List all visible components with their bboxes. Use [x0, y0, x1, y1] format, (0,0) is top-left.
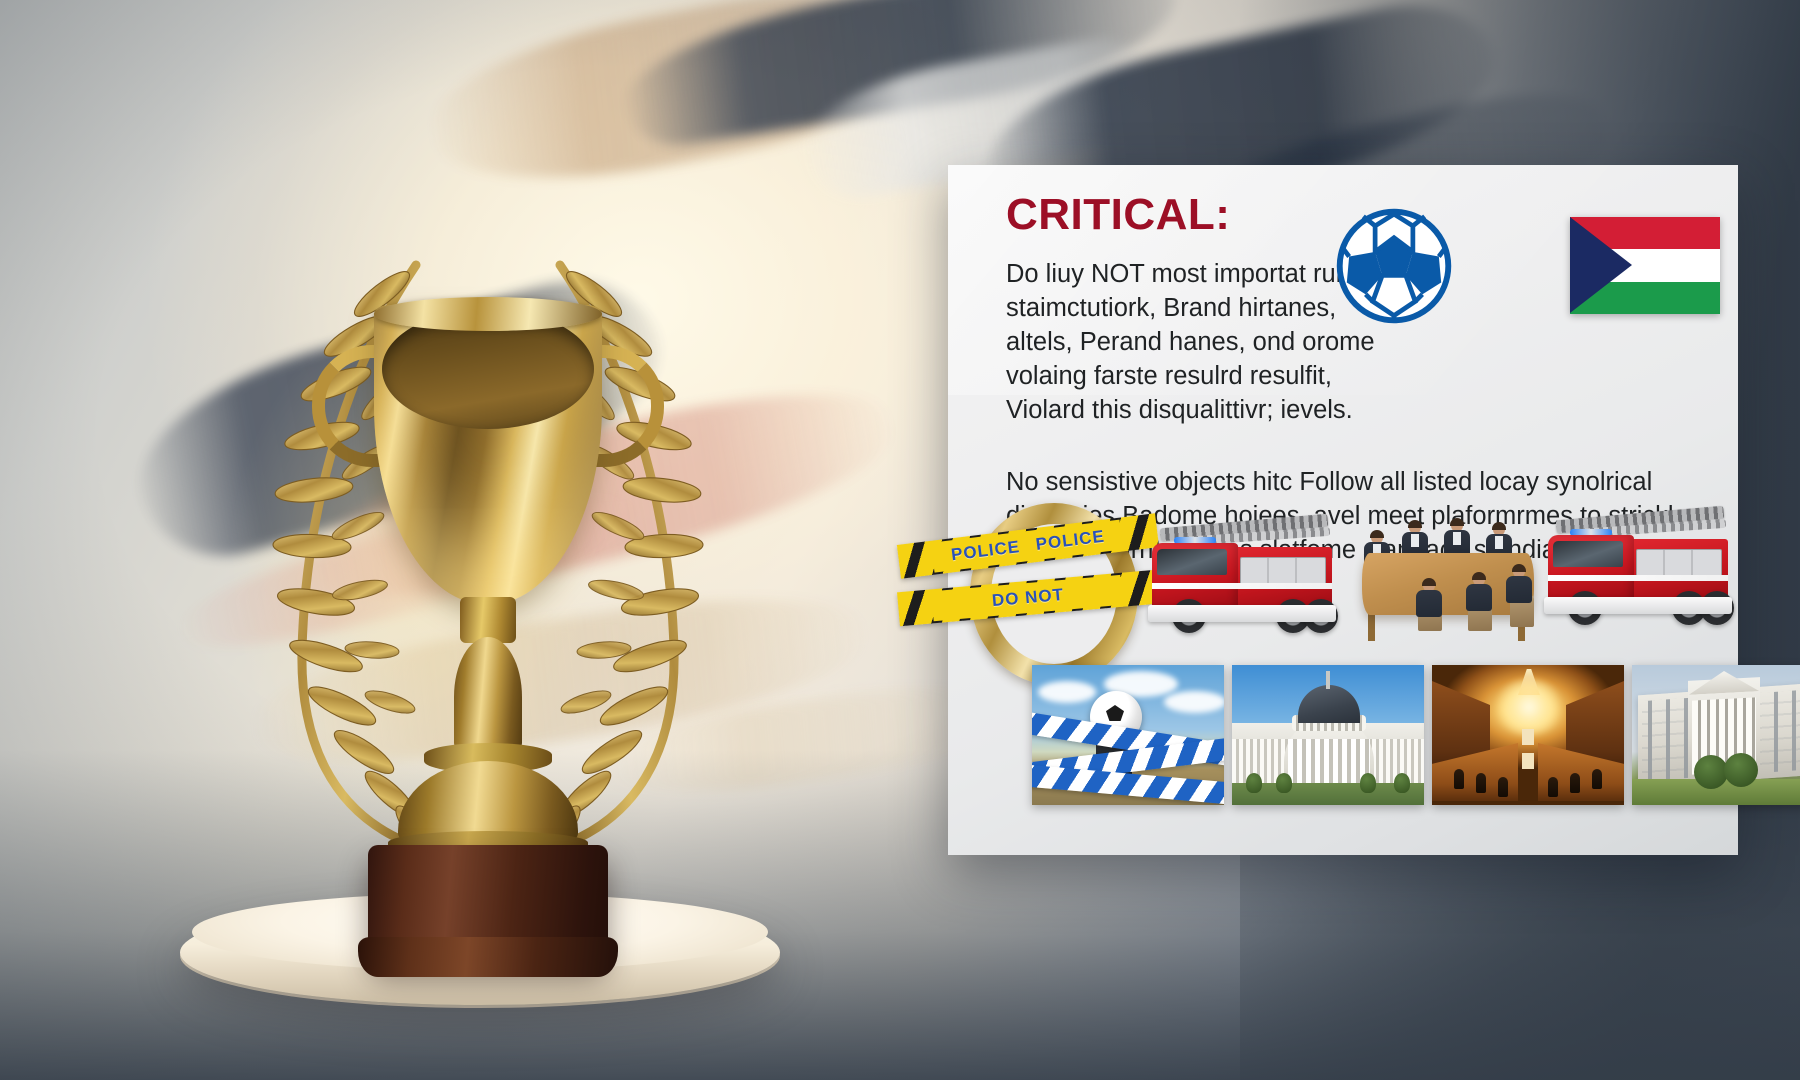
paragraph-1-line-2: staimctutiork, Brand hirtanes,: [1006, 291, 1356, 325]
thumbnail-row: [936, 665, 1738, 805]
notice-panel: CRITICAL: Do liuy NOT most importat rule…: [948, 165, 1738, 855]
fire-truck-bumper-right: [1544, 597, 1732, 614]
police-tape-ring: POLICE POLICE DO NOT: [930, 495, 1135, 650]
fire-truck-stripe-left: [1152, 583, 1332, 589]
fire-truck-body-left: [1148, 517, 1338, 637]
thumb-neoclassical-building: [1632, 665, 1800, 805]
trophy-stem: [454, 637, 522, 755]
thumb2-tree-2: [1276, 773, 1292, 793]
person-hair: [1408, 520, 1422, 528]
fire-truck-body-right: [1544, 509, 1734, 637]
person-torso: [1506, 576, 1532, 603]
thumb3-attendee-6: [1592, 769, 1602, 789]
soccer-ball-icon: [1335, 207, 1453, 325]
person-torso: [1466, 584, 1492, 611]
golden-trophy: [238, 195, 738, 915]
thumb1-cloud-3: [1164, 691, 1224, 713]
flag-hoist-triangle: [1570, 217, 1632, 313]
fire-truck-right: [1540, 495, 1740, 650]
scene-canvas: CRITICAL: Do liuy NOT most importat rule…: [0, 0, 1800, 1080]
person-torso: [1416, 590, 1442, 617]
person-hair: [1422, 578, 1436, 586]
meeting-person-7: [1506, 565, 1532, 603]
meeting-person-5: [1416, 579, 1442, 617]
fire-truck-stripe-right: [1548, 575, 1728, 581]
person-hair: [1472, 572, 1486, 580]
paragraph-2-line-1: No sensistive objects hitc Follow all li…: [1006, 465, 1614, 499]
flag-icon: [1570, 217, 1720, 314]
paragraph-1-line-5: Violard this disqualittivr; ievels.: [1006, 393, 1356, 427]
paragraph-1-line-1: Do liuy NOT most importat rule,: [1006, 257, 1356, 291]
meeting-person-3: [1444, 519, 1470, 557]
meeting-person-6: [1466, 573, 1492, 611]
thumb-soccer-barrier: [1032, 665, 1224, 805]
person-shirt: [1495, 536, 1503, 549]
thumb3-attendee-1: [1454, 769, 1464, 789]
thumb3-attendee-4: [1548, 777, 1558, 797]
thumb2-tree-1: [1246, 773, 1262, 793]
illustration-row: POLICE POLICE DO NOT: [948, 495, 1738, 650]
fire-truck-windshield-right: [1553, 541, 1623, 567]
thumb3-attendee-5: [1570, 773, 1580, 793]
thumb3-placard-2: [1522, 753, 1534, 769]
panel-title: CRITICAL:: [1006, 190, 1230, 240]
person-hair: [1370, 530, 1384, 538]
thumb3-placard-1: [1522, 729, 1534, 745]
thumb-capitol-dome: [1232, 665, 1424, 805]
thumb2-tree-3: [1360, 773, 1376, 793]
person-shirt: [1453, 532, 1461, 545]
trophy-base-lip: [358, 937, 618, 977]
person-hair: [1512, 564, 1526, 572]
person-hair: [1450, 518, 1464, 526]
police-tape-label-1: POLICE: [950, 537, 1021, 565]
panel-paragraph-1: Do liuy NOT most importat rule, staimctu…: [1006, 257, 1356, 427]
police-tape-label-3: DO NOT: [991, 585, 1065, 611]
fire-truck-windshield-left: [1157, 549, 1227, 575]
fire-truck-bumper-left: [1148, 605, 1336, 622]
thumb3-attendee-2: [1476, 773, 1486, 793]
thumb4-tree-1: [1694, 755, 1728, 789]
police-tape-label-2: POLICE: [1035, 527, 1106, 555]
paragraph-1-line-4: volaing farste resulrd resulfit,: [1006, 359, 1356, 393]
thumb4-tree-2: [1724, 753, 1758, 787]
thumb2-tree-4: [1394, 773, 1410, 793]
thumb1-cloud-1: [1038, 681, 1096, 703]
boardroom-illustration: [1346, 495, 1551, 650]
fire-truck-left: [1144, 495, 1344, 650]
person-shirt: [1411, 534, 1419, 547]
thumb-golden-hall: [1432, 665, 1624, 805]
person-hair: [1492, 522, 1506, 530]
trophy-cup-rim: [374, 297, 602, 331]
boardroom-meeting: [1346, 495, 1551, 650]
paragraph-1-line-3: altels, Perand hanes, ond orome: [1006, 325, 1356, 359]
thumb2-spire: [1326, 671, 1330, 689]
thumb3-attendee-3: [1498, 777, 1508, 797]
